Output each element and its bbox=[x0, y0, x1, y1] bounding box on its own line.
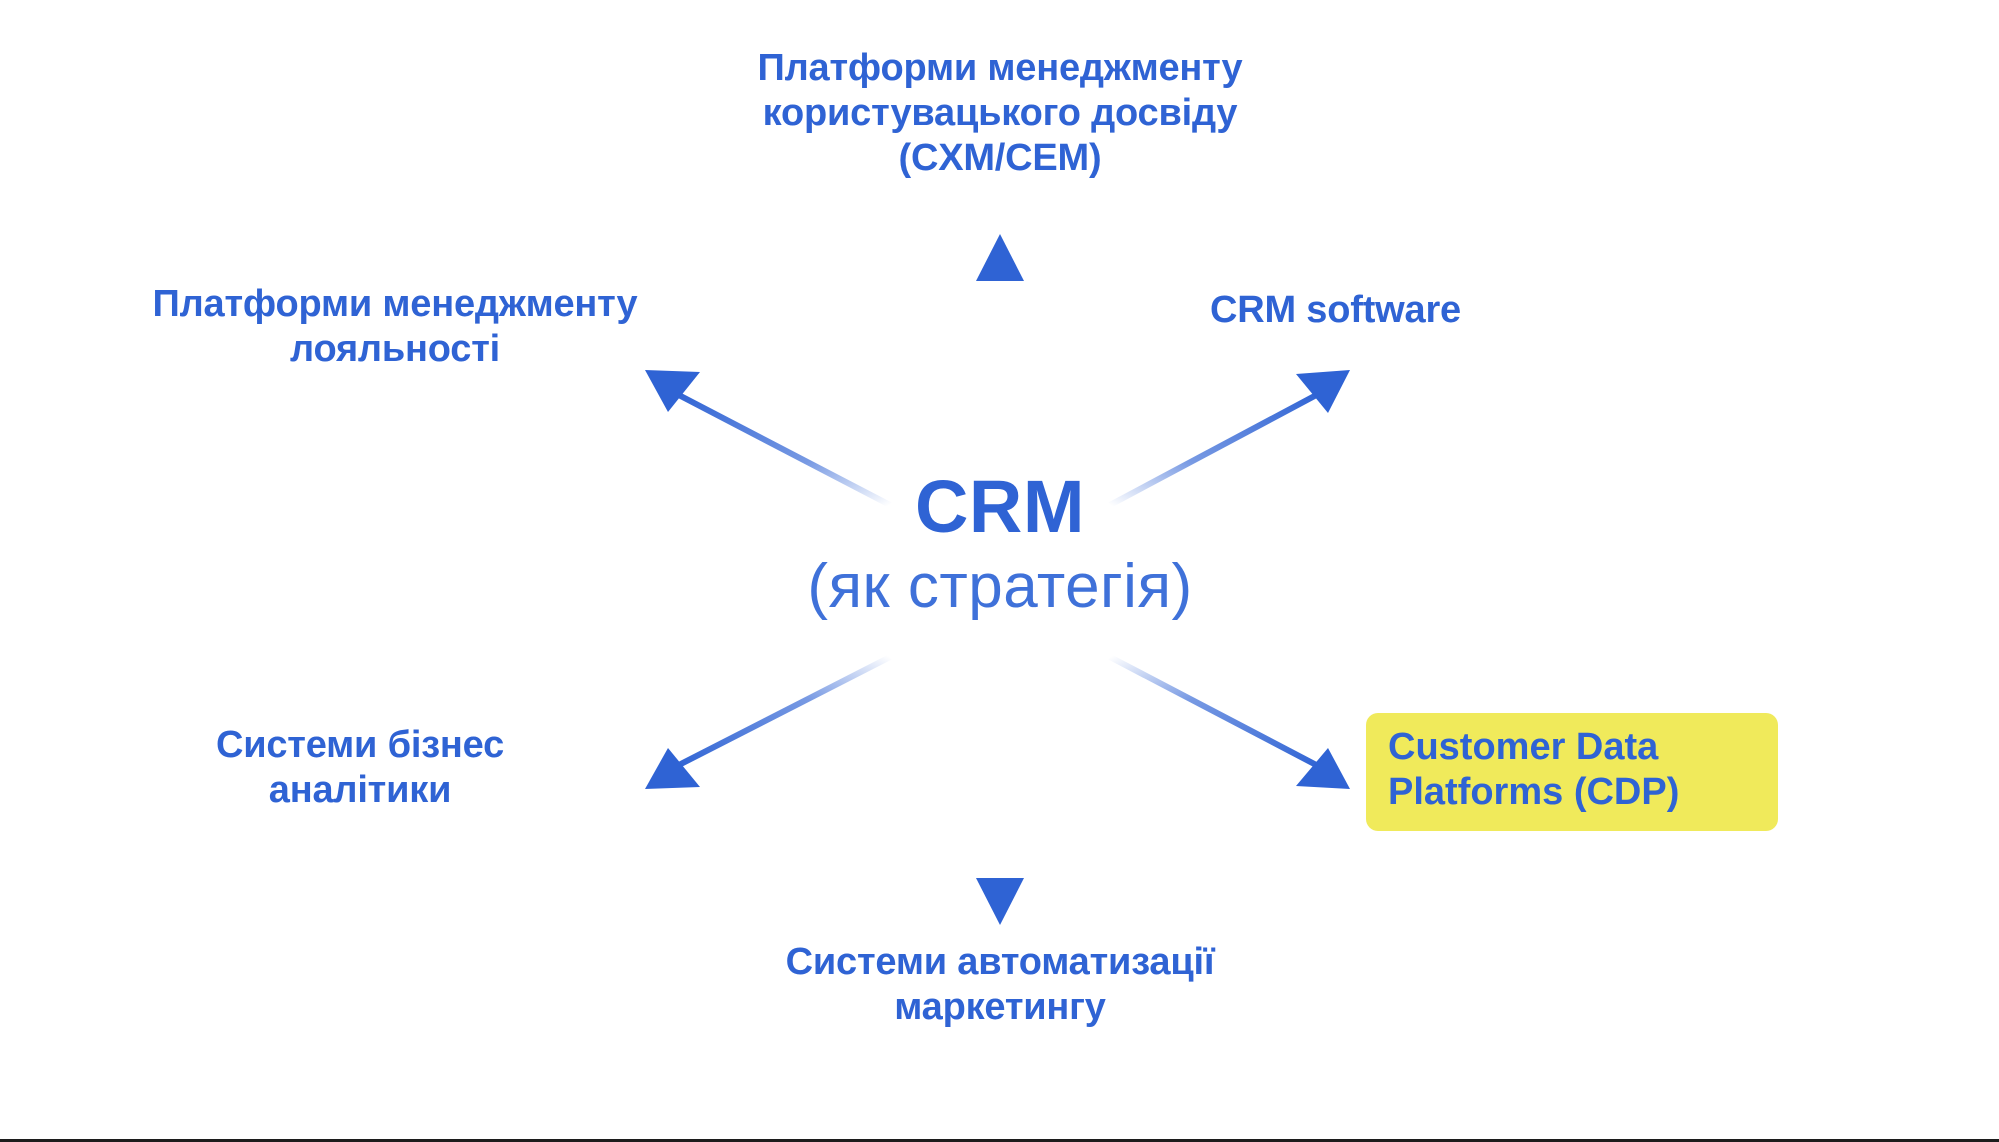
center-node: CRM (як стратегія) bbox=[600, 470, 1400, 621]
node-label-marketing-automation: Системи автоматизації маркетингу bbox=[580, 940, 1420, 1030]
center-node-title: CRM bbox=[600, 470, 1400, 544]
arrow-to-cdp-icon bbox=[1110, 657, 1350, 789]
arrow-to-business-intelligence-icon bbox=[645, 657, 890, 789]
diagram-canvas: Платформи менеджменту користувацького до… bbox=[0, 0, 1999, 1142]
node-label-crm-software: CRM software bbox=[1210, 288, 1830, 333]
node-label-loyalty: Платформи менеджменту лояльності bbox=[30, 282, 760, 372]
node-label-business-intelligence: Системи бізнес аналітики bbox=[100, 723, 620, 813]
arrow-to-marketing-automation-icon bbox=[976, 742, 1024, 925]
arrow-to-cxm-icon bbox=[976, 234, 1024, 425]
center-node-subtitle: (як стратегія) bbox=[600, 552, 1400, 621]
node-label-cxm: Платформи менеджменту користувацького до… bbox=[560, 46, 1440, 180]
node-label-cdp-highlighted: Customer Data Platforms (CDP) bbox=[1366, 713, 1778, 831]
